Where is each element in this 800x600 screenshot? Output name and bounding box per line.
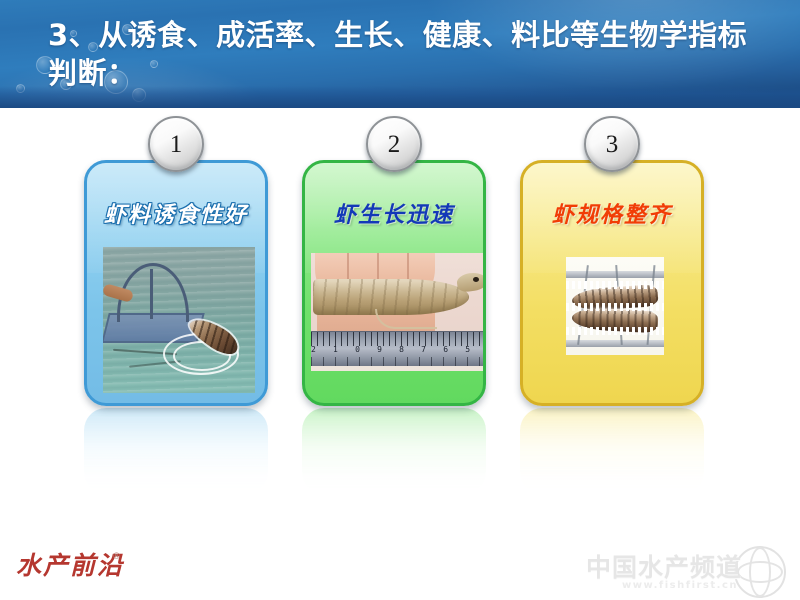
badge-number: 3 — [606, 132, 619, 157]
slide-canvas: 3、从诱食、成活率、生长、健康、料比等生物学指标判断： 虾料诱食性好 — [0, 0, 800, 600]
ruler-ticks-secondary — [311, 357, 483, 366]
badge-number: 1 — [170, 132, 183, 157]
card-reflection-3 — [520, 408, 704, 494]
card-slot-2: 虾生长迅速 — [294, 108, 494, 528]
card-slot-3: 虾规格整齐 — [512, 108, 712, 528]
watermark: 中国水产频道 www.fishfirst.cn — [580, 546, 790, 598]
badge-number: 2 — [388, 132, 401, 157]
card-1[interactable]: 虾料诱食性好 — [84, 160, 268, 406]
card-slot-1: 虾料诱食性好 1 — [76, 108, 276, 528]
ruler-rail — [566, 340, 664, 347]
cards-row: 虾料诱食性好 1 — [0, 108, 800, 528]
photo-edge-fringe — [566, 281, 664, 289]
shrimp-legs — [375, 309, 437, 329]
ruler-ticks — [311, 332, 483, 346]
card-reflection-1 — [84, 408, 268, 494]
slide-header: 3、从诱食、成活率、生长、健康、料比等生物学指标判断： — [0, 0, 800, 108]
card-photo-1 — [103, 247, 255, 393]
card-badge-1: 1 — [148, 116, 204, 172]
photo-bottom-edge — [311, 366, 483, 371]
card-reflection-2 — [302, 408, 486, 494]
card-photo-2: 2 1 0 9 8 7 6 5 4 3 2 1 — [311, 253, 483, 371]
watermark-text: 中国水产频道 — [586, 554, 766, 582]
card-label-2: 虾生长迅速 — [305, 203, 483, 229]
feeding-tray-pole — [150, 269, 153, 319]
card-photo-3 — [566, 257, 664, 355]
brand-logo-left: 水产前沿 — [16, 551, 124, 581]
card-badge-3: 3 — [584, 116, 640, 172]
page-title: 3、从诱食、成活率、生长、健康、料比等生物学指标判断： — [48, 16, 768, 92]
slide-footer: 水产前沿 ® 中国水产频道 www.fishfirst.cn — [0, 540, 800, 600]
card-2[interactable]: 虾生长迅速 — [302, 160, 486, 406]
photo-edge-fringe — [566, 327, 664, 335]
photo-edge-fringe — [566, 303, 664, 311]
card-3[interactable]: 虾规格整齐 — [520, 160, 704, 406]
watermark-url: www.fishfirst.cn — [622, 580, 738, 591]
card-label-1: 虾料诱食性好 — [87, 203, 265, 229]
ruler: 2 1 0 9 8 7 6 5 4 3 2 1 — [311, 331, 483, 367]
shrimp-eye — [473, 277, 479, 282]
card-label-3: 虾规格整齐 — [523, 203, 701, 229]
card-badge-2: 2 — [366, 116, 422, 172]
registered-mark: ® — [112, 552, 121, 562]
